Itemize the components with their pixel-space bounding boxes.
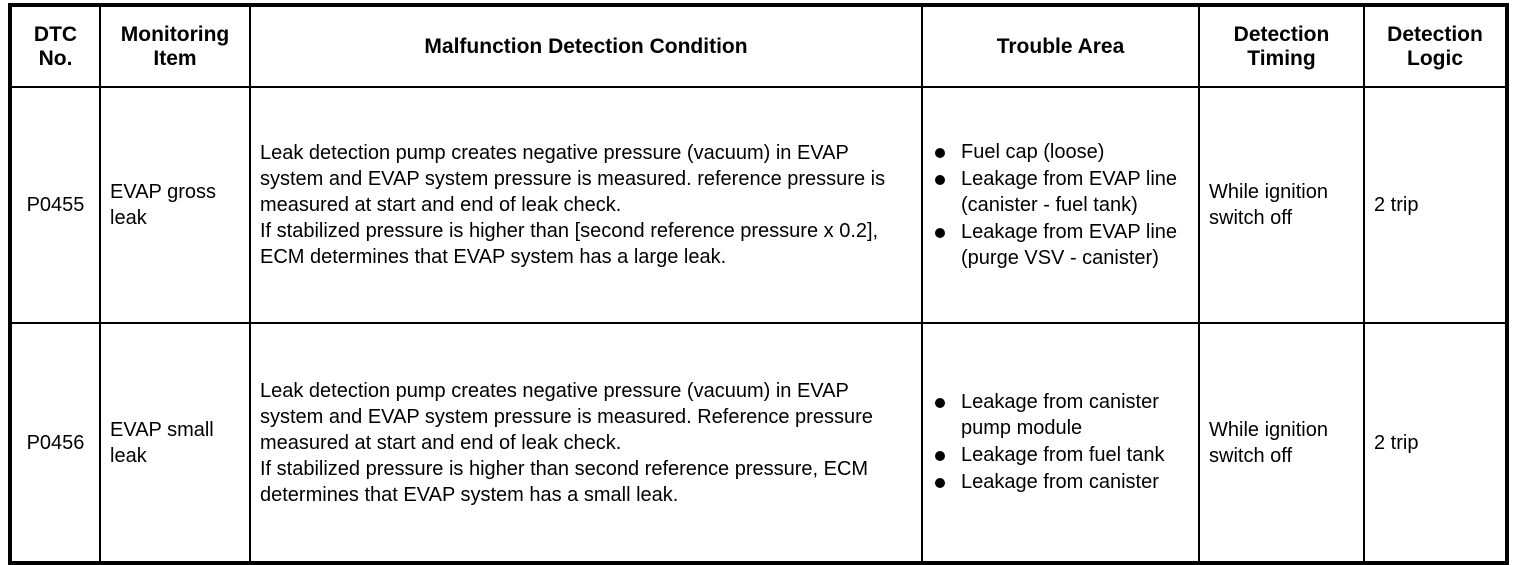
- list-item-label: Leakage from canister: [961, 471, 1159, 493]
- column-header-trouble-area: Trouble Area: [922, 5, 1199, 87]
- column-header-detection-timing: Detection Timing: [1199, 5, 1364, 87]
- bullet-icon: [935, 175, 945, 185]
- column-header-detection-logic: Detection Logic: [1364, 5, 1507, 87]
- column-header-monitoring-item: Monitoring Item: [100, 5, 250, 87]
- cell-detection-logic: 2 trip: [1364, 87, 1507, 323]
- cell-monitoring-item: EVAP small leak: [100, 323, 250, 563]
- table-row: P0456 EVAP small leak Leak detection pum…: [10, 323, 1507, 563]
- list-item: Fuel cap (loose): [931, 139, 1194, 165]
- cell-malfunction-condition: Leak detection pump creates negative pre…: [250, 87, 922, 323]
- malfunction-text: Leak detection pump creates negative pre…: [260, 140, 915, 270]
- cell-dtc-no: P0455: [10, 87, 100, 323]
- column-header-dtc-no: DTC No.: [10, 5, 100, 87]
- dtc-table-page: DTC No. Monitoring Item Malfunction Dete…: [0, 0, 1520, 532]
- cell-monitoring-item: EVAP gross leak: [100, 87, 250, 323]
- bullet-icon: [935, 478, 945, 488]
- cell-malfunction-condition: Leak detection pump creates negative pre…: [250, 323, 922, 563]
- cell-trouble-area: Leakage from canister pump module Leakag…: [922, 323, 1199, 563]
- trouble-area-list: Leakage from canister pump module Leakag…: [931, 389, 1194, 495]
- list-item: Leakage from canister pump module: [931, 389, 1194, 441]
- cell-detection-timing: While ignition switch off: [1199, 87, 1364, 323]
- bullet-icon: [935, 148, 945, 158]
- list-item-label: Leakage from EVAP line (canister - fuel …: [961, 168, 1177, 216]
- list-item-label: Fuel cap (loose): [961, 141, 1104, 163]
- trouble-area-list: Fuel cap (loose) Leakage from EVAP line …: [931, 139, 1194, 271]
- bullet-icon: [935, 451, 945, 461]
- cell-dtc-no: P0456: [10, 323, 100, 563]
- table-row: P0455 EVAP gross leak Leak detection pum…: [10, 87, 1507, 323]
- cell-detection-timing: While ignition switch off: [1199, 323, 1364, 563]
- list-item: Leakage from fuel tank: [931, 442, 1194, 468]
- list-item-label: Leakage from canister pump module: [961, 391, 1159, 439]
- column-header-malfunction-detection-condition: Malfunction Detection Condition: [250, 5, 922, 87]
- bullet-icon: [935, 398, 945, 408]
- list-item: Leakage from EVAP line (purge VSV - cani…: [931, 219, 1194, 271]
- bullet-icon: [935, 228, 945, 238]
- table-header: DTC No. Monitoring Item Malfunction Dete…: [10, 5, 1507, 87]
- list-item: Leakage from EVAP line (canister - fuel …: [931, 166, 1194, 218]
- list-item-label: Leakage from fuel tank: [961, 444, 1164, 466]
- table-body: P0455 EVAP gross leak Leak detection pum…: [10, 87, 1507, 563]
- cell-detection-logic: 2 trip: [1364, 323, 1507, 563]
- dtc-diagnostic-table: DTC No. Monitoring Item Malfunction Dete…: [8, 3, 1509, 565]
- list-item-label: Leakage from EVAP line (purge VSV - cani…: [961, 221, 1177, 269]
- header-row: DTC No. Monitoring Item Malfunction Dete…: [10, 5, 1507, 87]
- list-item: Leakage from canister: [931, 469, 1194, 495]
- cell-trouble-area: Fuel cap (loose) Leakage from EVAP line …: [922, 87, 1199, 323]
- malfunction-text: Leak detection pump creates negative pre…: [260, 378, 915, 508]
